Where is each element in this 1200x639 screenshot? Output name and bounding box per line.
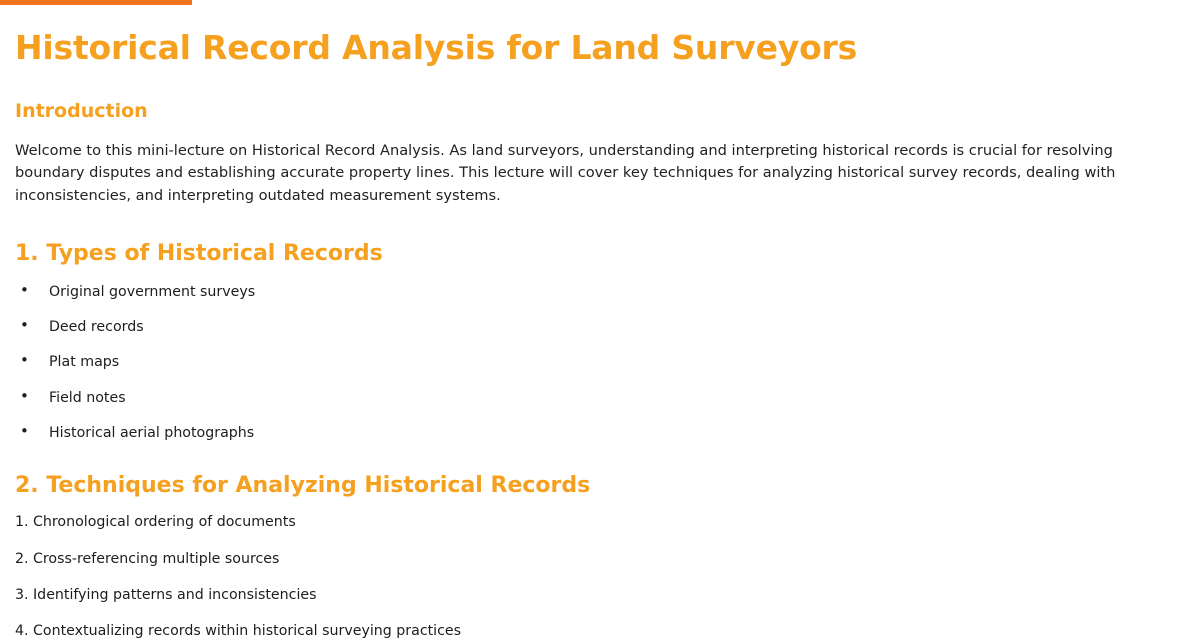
page-title: Historical Record Analysis for Land Surv… — [15, 29, 1185, 68]
list-item: Contextualizing records within historica… — [15, 624, 1185, 638]
section-heading-types-of-records: 1. Types of Historical Records — [15, 241, 1185, 267]
types-of-records-list: Original government surveys Deed records… — [15, 285, 1185, 440]
accent-bar — [0, 0, 192, 5]
techniques-list: Chronological ordering of documents Cros… — [15, 515, 1185, 638]
list-item: Deed records — [15, 320, 1185, 334]
document-page: Historical Record Analysis for Land Surv… — [0, 29, 1200, 638]
introduction-paragraph: Welcome to this mini-lecture on Historic… — [15, 140, 1185, 208]
list-item: Historical aerial photographs — [15, 426, 1185, 440]
list-item: Plat maps — [15, 355, 1185, 369]
list-item: Field notes — [15, 391, 1185, 405]
list-item: Original government surveys — [15, 285, 1185, 299]
section-heading-techniques: 2. Techniques for Analyzing Historical R… — [15, 473, 1185, 499]
list-item: Cross-referencing multiple sources — [15, 552, 1185, 566]
list-item: Identifying patterns and inconsistencies — [15, 588, 1185, 602]
section-heading-introduction: Introduction — [15, 100, 1185, 123]
list-item: Chronological ordering of documents — [15, 515, 1185, 529]
